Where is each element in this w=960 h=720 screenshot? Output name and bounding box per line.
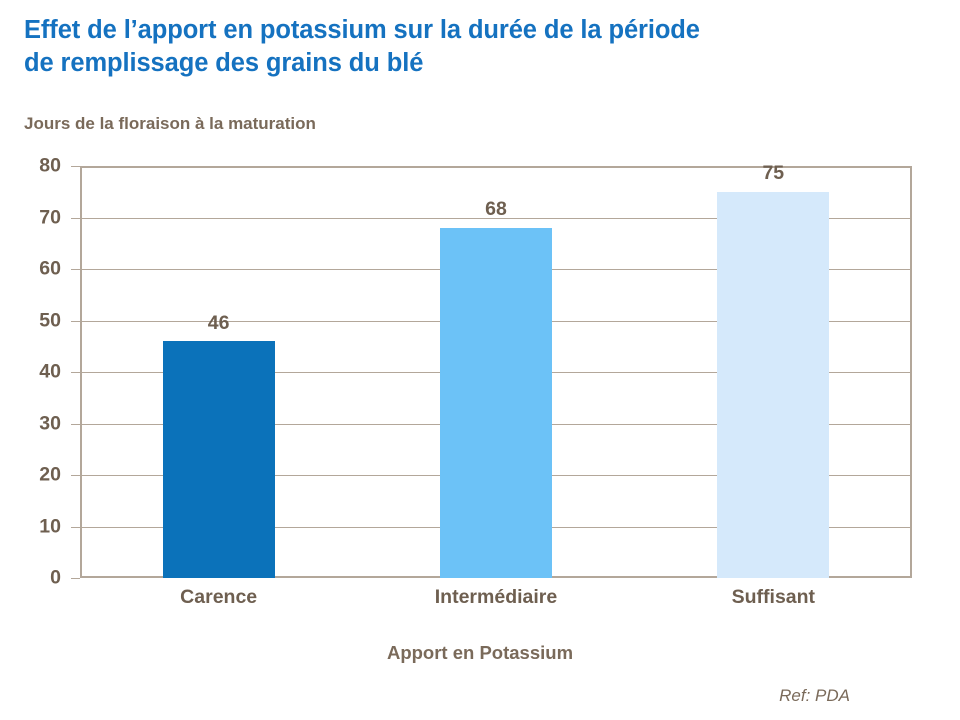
- y-axis-tick-label: 10: [15, 517, 61, 537]
- x-axis-category-label: Carence: [180, 586, 257, 609]
- page-title-line-1: Effet de l’apport en potassium sur la du…: [24, 14, 924, 47]
- bar[interactable]: [163, 341, 275, 578]
- bar-value-label: 46: [208, 314, 230, 334]
- reference-note: Ref: PDA: [779, 686, 850, 706]
- y-axis-tick-mark: [71, 166, 80, 167]
- y-axis-tick-mark: [71, 218, 80, 219]
- y-axis-tick-label: 70: [15, 208, 61, 228]
- y-axis-tick-label: 20: [15, 465, 61, 485]
- y-axis-tick-mark: [71, 527, 80, 528]
- bar-value-label: 75: [762, 164, 784, 184]
- bar-series: 466875: [80, 166, 912, 578]
- page-title: Effet de l’apport en potassium sur la du…: [24, 14, 924, 79]
- y-axis-tick-mark: [71, 424, 80, 425]
- bar-value-label: 68: [485, 200, 507, 220]
- bar[interactable]: [440, 228, 552, 578]
- chart-plot-area: 466875: [80, 166, 912, 578]
- y-axis-tick-mark: [71, 372, 80, 373]
- y-axis-tick-group: 80706050403020100: [0, 166, 80, 578]
- y-axis-tick-label: 0: [15, 568, 61, 588]
- x-axis-category-label: Suffisant: [732, 586, 815, 609]
- y-axis-tick-label: 40: [15, 362, 61, 382]
- bar-slot: 68: [357, 166, 634, 578]
- x-axis-category-group: CarenceIntermédiaireSuffisant: [80, 586, 912, 620]
- y-axis-tick-label: 30: [15, 414, 61, 434]
- y-axis-tick-mark: [71, 475, 80, 476]
- bar[interactable]: [717, 192, 829, 578]
- y-axis-tick-mark: [71, 578, 80, 579]
- x-axis-category-label: Intermédiaire: [435, 586, 557, 609]
- page-title-line-2: de remplissage des grains du blé: [24, 47, 924, 80]
- bar-slot: 75: [635, 166, 912, 578]
- y-axis-tick-label: 50: [15, 311, 61, 331]
- y-axis-tick-mark: [71, 269, 80, 270]
- y-axis-tick-mark: [71, 321, 80, 322]
- y-axis-tick-label: 60: [15, 259, 61, 279]
- y-axis-label: Jours de la floraison à la maturation: [24, 114, 316, 134]
- y-axis-tick-label: 80: [15, 156, 61, 176]
- bar-slot: 46: [80, 166, 357, 578]
- x-axis-title: Apport en Potassium: [0, 642, 960, 664]
